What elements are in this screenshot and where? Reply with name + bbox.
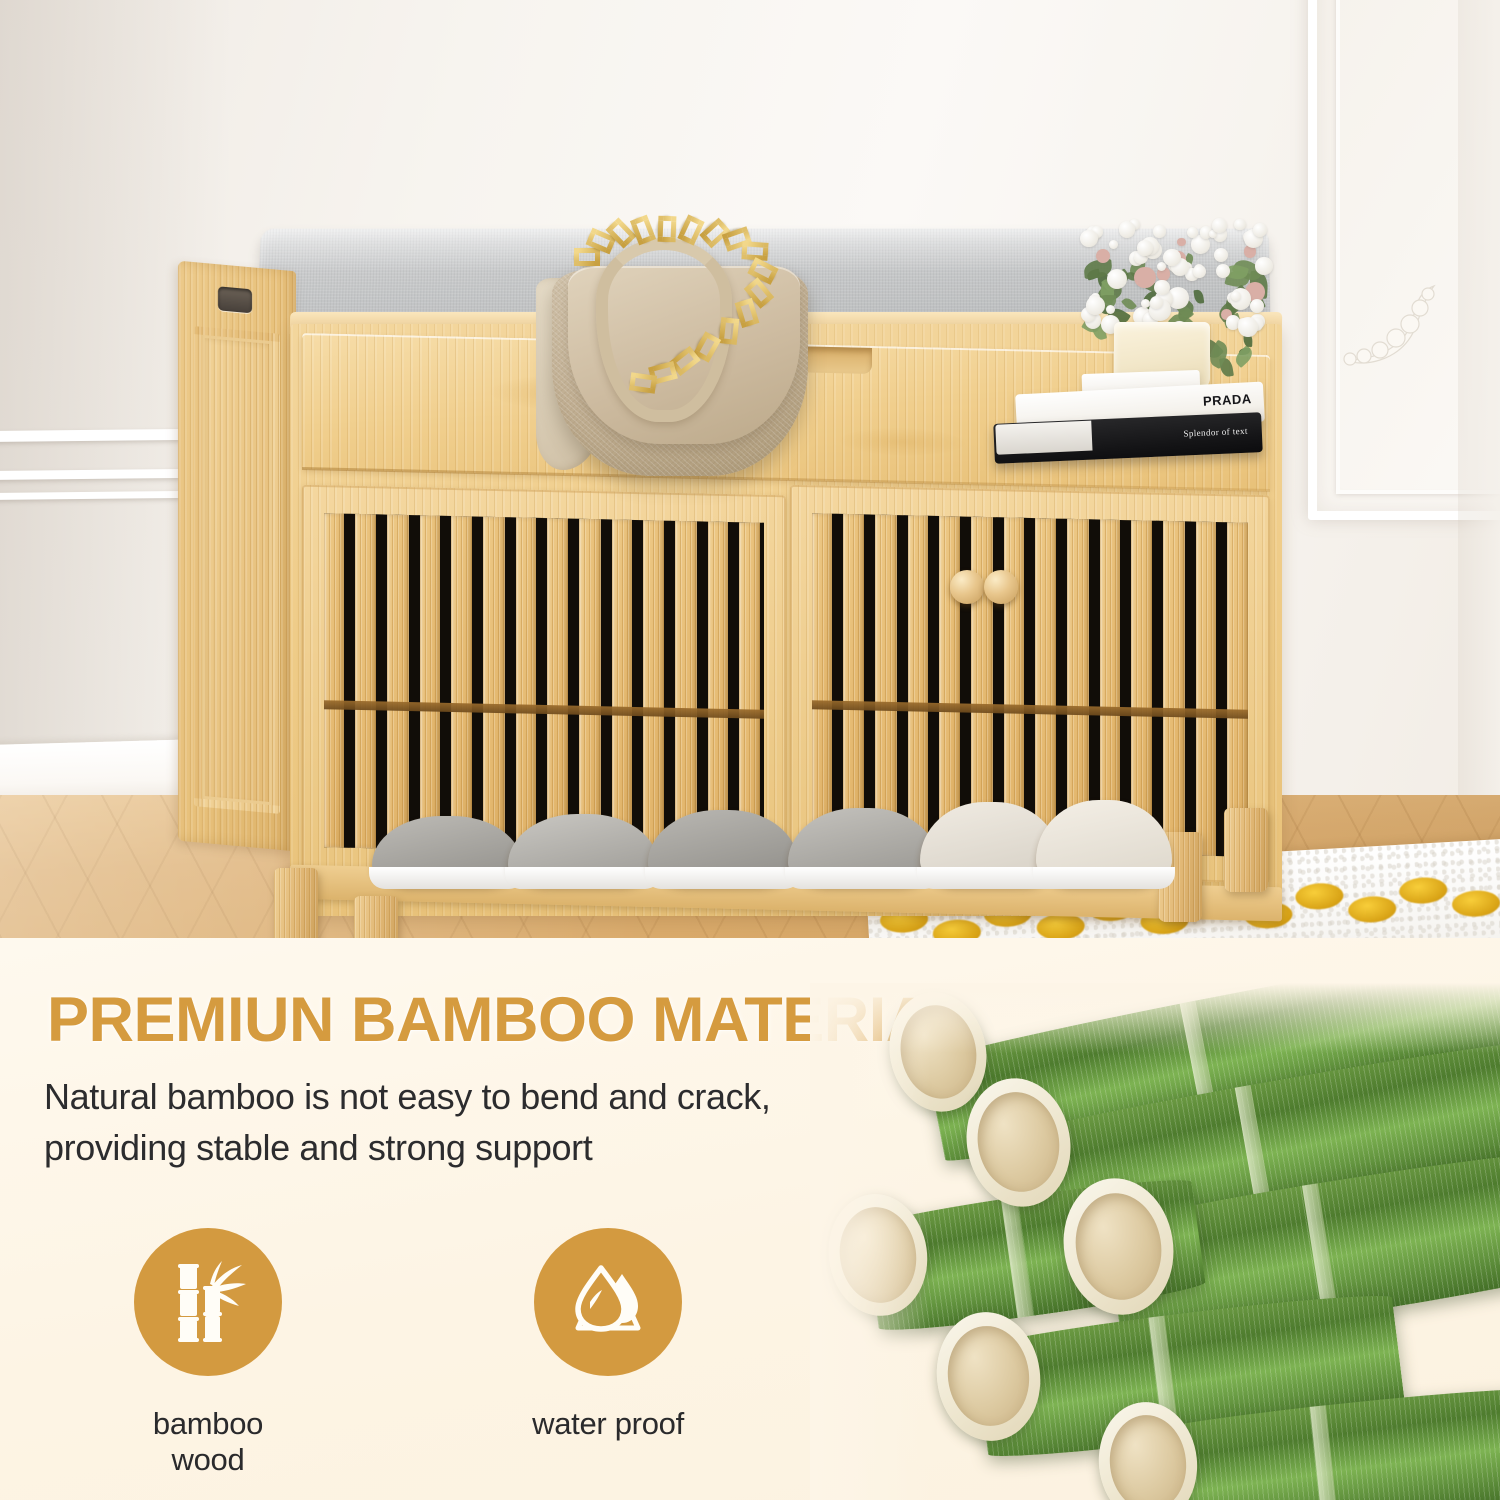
bouquet-flower <box>1134 267 1155 288</box>
slat-gap <box>1185 521 1196 855</box>
bench-leg <box>274 868 318 938</box>
bouquet-leaf <box>1194 289 1205 304</box>
bench-side-panel <box>178 261 296 852</box>
bouquet-flower <box>1177 238 1185 246</box>
subheadline: Natural bamboo is not easy to bend and c… <box>44 1071 770 1173</box>
subheadline-line-2: providing stable and strong support <box>44 1122 770 1173</box>
bouquet-flower <box>1214 248 1229 263</box>
bouquet-flower <box>1238 317 1258 337</box>
badge-circle-waterproof <box>534 1228 682 1376</box>
door-slat <box>324 513 344 847</box>
bouquet-leaf <box>1232 345 1256 368</box>
photo-top-fade <box>810 983 1500 1053</box>
bouquet-flower <box>1255 257 1273 275</box>
photo-left-fade <box>810 983 930 1500</box>
shoe <box>648 810 798 886</box>
badge-circle-bamboo <box>134 1228 282 1376</box>
bouquet-flower <box>1253 223 1267 237</box>
handbag <box>516 226 836 488</box>
bouquet-flower <box>1137 240 1153 256</box>
shoe <box>372 816 522 886</box>
decor-books-and-plant: PRADA Splendor of text <box>986 222 1316 490</box>
bouquet-flower <box>1163 249 1181 267</box>
bouquet-flower <box>1153 225 1166 238</box>
wall-moulding-rail <box>0 429 180 442</box>
bouquet-flower <box>1150 296 1163 309</box>
chain-link <box>630 215 656 246</box>
bouquet-flower <box>1234 219 1245 230</box>
chain-link <box>719 317 740 345</box>
bouquet-flower <box>1250 299 1264 313</box>
bamboo-hollow-interior <box>970 1086 1066 1199</box>
side-inset-handle <box>218 286 252 313</box>
book-pages <box>995 421 1092 455</box>
bouquet-flower <box>1080 230 1098 248</box>
shoe <box>788 808 938 886</box>
shoe <box>508 814 658 886</box>
door-knob-right[interactable] <box>984 570 1018 604</box>
water-droplet-icon <box>560 1254 656 1350</box>
door-knob-left[interactable] <box>950 570 984 604</box>
feature-water-proof: water proof <box>518 1228 698 1478</box>
shoe-sole <box>645 867 801 889</box>
shoe <box>1036 800 1172 886</box>
slat-gap <box>1216 522 1227 856</box>
bouquet-flower <box>1157 262 1166 271</box>
bamboo-node <box>1310 1405 1338 1500</box>
shoes-under-bench <box>372 766 1172 886</box>
shoe-sole <box>1033 867 1175 889</box>
bench-leg <box>354 896 398 938</box>
door-slat <box>1196 522 1216 856</box>
bouquet-flower <box>1216 264 1230 278</box>
feature-bamboo-wood: bamboo wood <box>118 1228 298 1478</box>
shoe-sole <box>369 867 525 889</box>
bamboo-hollow-interior <box>1068 1187 1169 1306</box>
chain-link <box>677 214 704 245</box>
bamboo-node <box>1001 1197 1034 1318</box>
bamboo-hollow-interior <box>942 1321 1034 1430</box>
bouquet-flower <box>1119 221 1135 237</box>
rug-dot <box>1451 889 1500 918</box>
book-title-white: PRADA <box>1203 391 1252 409</box>
subheadline-line-1: Natural bamboo is not easy to bend and c… <box>44 1071 770 1122</box>
chain-link <box>574 248 600 266</box>
feature-badges: bamboo wood water proof <box>118 1228 698 1478</box>
book-title-black: Splendor of text <box>1183 426 1248 439</box>
carved-flourish-ornament <box>1338 280 1448 390</box>
bouquet-flower <box>1086 296 1105 315</box>
feature-info-panel: PREMIUN BAMBOO MATERIAL Natural bamboo i… <box>0 938 1500 1500</box>
bouquet-flower <box>1106 305 1115 314</box>
bouquet-flower <box>1109 240 1118 249</box>
bamboo-culms-photo <box>810 983 1500 1500</box>
bouquet-flower <box>1096 249 1110 263</box>
rug-dot <box>932 918 981 938</box>
lifestyle-photo-panel: PRADA Splendor of text <box>0 0 1500 938</box>
rug-dot <box>1399 876 1448 905</box>
chain-link <box>741 241 768 261</box>
bouquet-flower <box>1154 280 1170 296</box>
bench-leg <box>1224 808 1268 892</box>
rug-dot <box>1348 895 1397 924</box>
chain-link <box>658 216 677 243</box>
feature-label-bamboo-wood: bamboo wood <box>118 1406 298 1478</box>
bouquet-flower <box>1107 269 1127 289</box>
handbag-gold-chain <box>574 218 784 408</box>
bamboo-stalk-icon <box>160 1254 256 1350</box>
shoe-sole <box>505 867 661 889</box>
feature-label-water-proof: water proof <box>518 1406 698 1442</box>
wall-corner-edge <box>1458 0 1500 838</box>
product-infographic-page: PRADA Splendor of text PREMIUN BAMBOO MA… <box>0 0 1500 1500</box>
door-slat <box>1227 522 1248 856</box>
bamboo-hollow-interior <box>1105 1412 1191 1500</box>
bouquet-flower <box>1193 265 1206 278</box>
slat-gap <box>344 514 355 848</box>
side-panel-inset <box>194 326 280 814</box>
